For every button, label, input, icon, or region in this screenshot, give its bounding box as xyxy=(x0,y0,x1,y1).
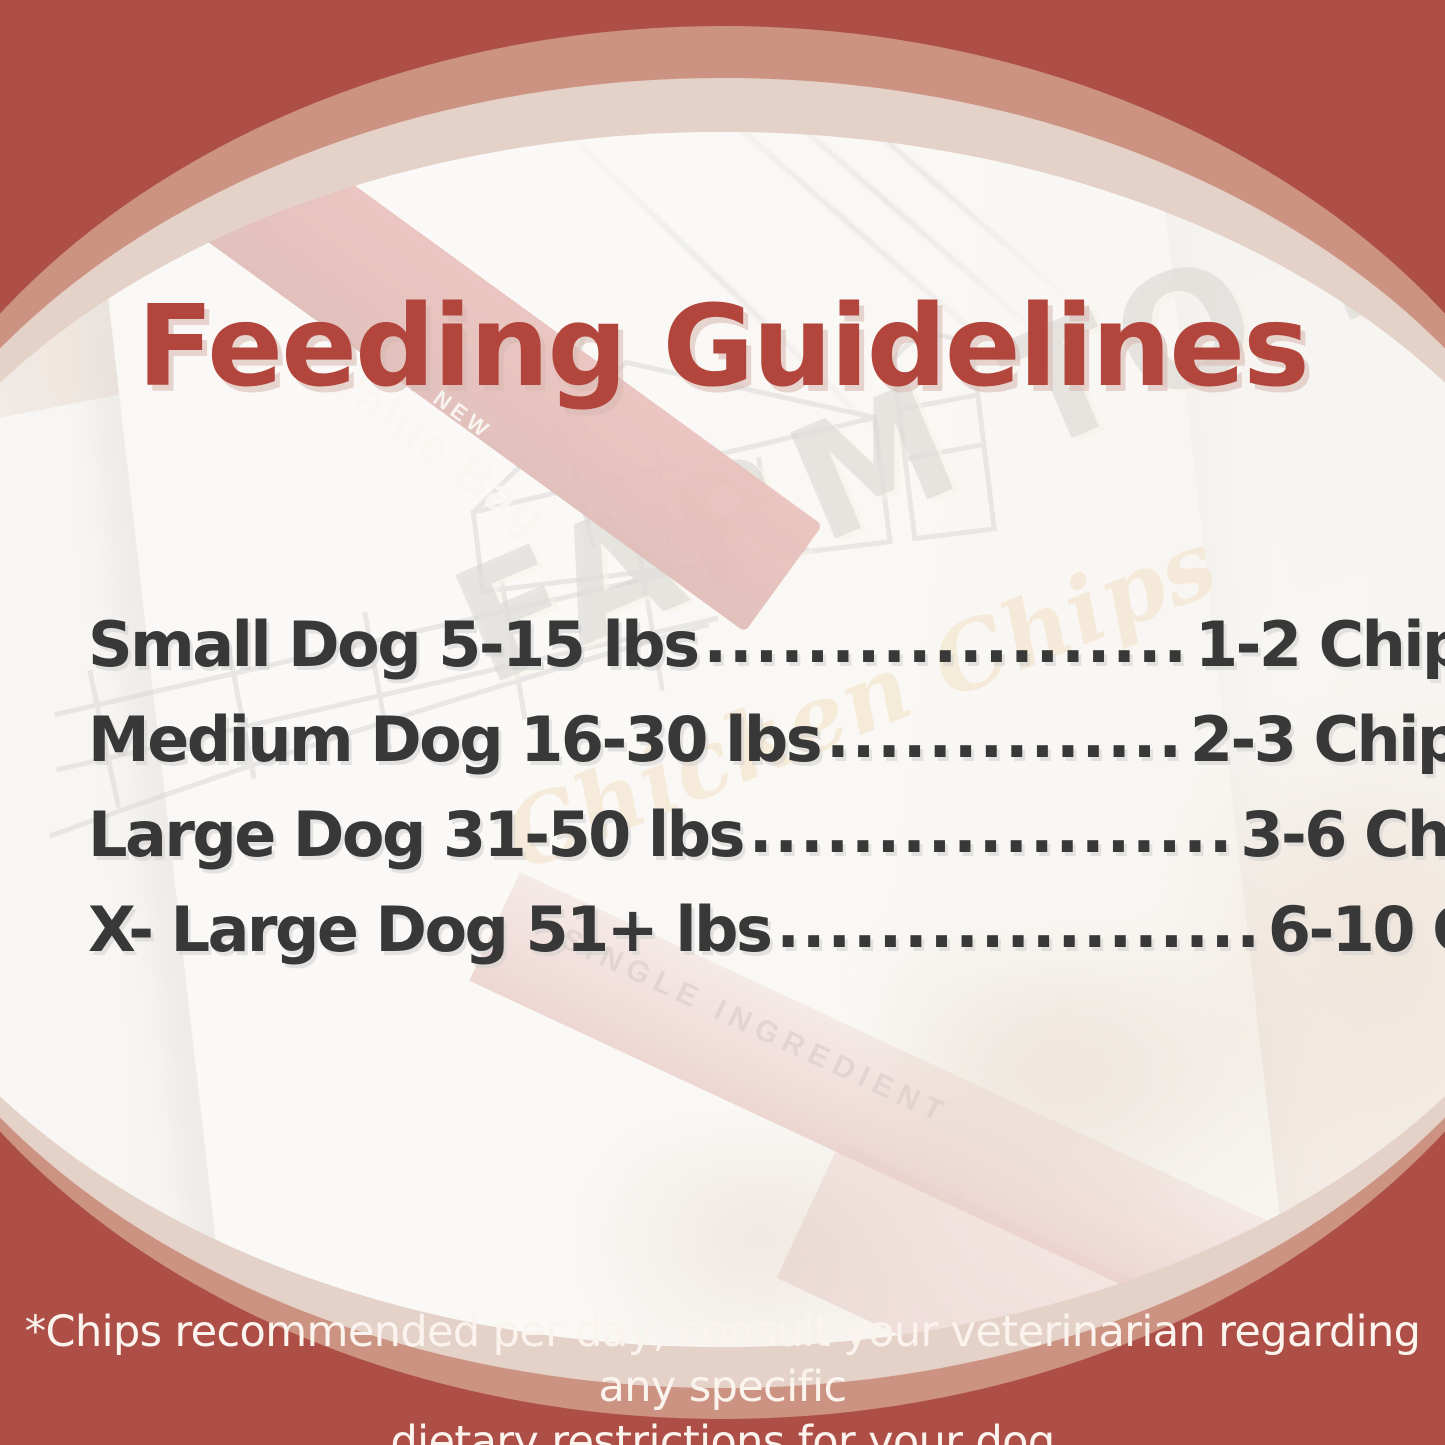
table-row: Small Dog 5-15 lbs ................... 1… xyxy=(88,608,1356,703)
row-leader: ................... xyxy=(703,604,1189,677)
table-row: X- Large Dog 51+ lbs ...................… xyxy=(88,893,1356,988)
table-row: Large Dog 31-50 lbs ................... … xyxy=(88,798,1356,893)
row-leader: ................... xyxy=(776,889,1262,962)
row-value: 6-10 Chips* xyxy=(1268,893,1445,966)
row-label: X- Large Dog 51+ lbs xyxy=(88,893,770,966)
footnote-line-1: *Chips recommended per day, consult your… xyxy=(25,1307,1421,1412)
row-leader: ................... xyxy=(749,794,1235,867)
row-value: 2-3 Chips* xyxy=(1190,703,1445,776)
row-value: 3-6 Chips* xyxy=(1240,798,1445,871)
row-leader: .............. xyxy=(826,699,1184,772)
feeding-guidelines-table: Small Dog 5-15 lbs ................... 1… xyxy=(88,608,1356,988)
footnote: *Chips recommended per day, consult your… xyxy=(0,1305,1445,1445)
content-layer: Feeding Guidelines Small Dog 5-15 lbs ..… xyxy=(0,0,1445,1445)
row-label: Medium Dog 16-30 lbs xyxy=(88,703,820,776)
infographic-canvas: FARM TO PET Chicken Chips SINGLE INGREDI… xyxy=(0,0,1445,1445)
table-row: Medium Dog 16-30 lbs .............. 2-3 … xyxy=(88,703,1356,798)
row-label: Large Dog 31-50 lbs xyxy=(88,798,743,871)
footnote-line-2: dietary restrictions for your dog xyxy=(0,1415,1445,1445)
page-title: Feeding Guidelines xyxy=(0,282,1445,412)
row-value: 1-2 Chips* xyxy=(1195,608,1445,681)
row-label: Small Dog 5-15 lbs xyxy=(88,608,697,681)
